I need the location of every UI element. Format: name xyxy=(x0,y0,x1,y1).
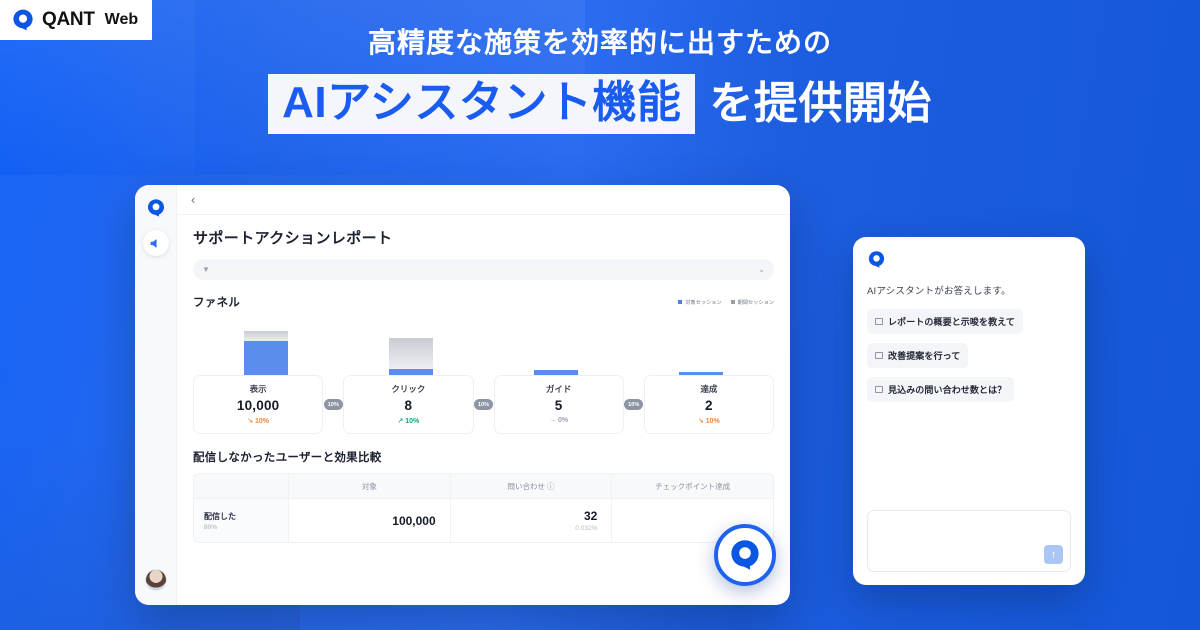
ai-suggestion-label: 改善提案を行って xyxy=(888,349,960,362)
funnel-step-value: 5 xyxy=(499,398,619,413)
legend-item-0: 対象セッション xyxy=(678,299,721,306)
legend-swatch xyxy=(731,300,735,304)
bar-segment-target xyxy=(244,341,288,375)
sidebar-avatar[interactable] xyxy=(145,569,167,591)
funnel-step-value: 8 xyxy=(348,398,468,413)
bar-segment-period xyxy=(244,331,288,341)
headline-sub: 高精度な施策を効率的に出すための xyxy=(0,26,1200,60)
ai-suggestion-chip[interactable]: 見込みの問い合わせ数とは？ xyxy=(867,377,1014,402)
table-header-cell-inquiry: 問い合わせ ⓘ xyxy=(451,474,613,498)
table-header-cell-target: 対象 xyxy=(289,474,451,498)
funnel-step-delta: → 0% xyxy=(499,417,619,424)
page-title: サポートアクションレポート xyxy=(193,227,774,248)
table-row: 配信した 80% 100,000 32 0.032% xyxy=(194,498,773,542)
funnel-bar-0 xyxy=(193,317,338,375)
funnel-title: ファネル xyxy=(193,294,240,310)
funnel-bar-2 xyxy=(484,317,629,375)
sidebar-megaphone-icon[interactable] xyxy=(143,230,169,256)
brand-suffix: Web xyxy=(105,11,138,29)
table-cell-target: 100,000 xyxy=(289,499,451,542)
qant-droplet-logo-icon xyxy=(728,538,762,572)
legend-swatch xyxy=(678,300,682,304)
send-button[interactable]: ↑ xyxy=(1044,545,1063,564)
comparison-table: 対象 問い合わせ ⓘ チェックポイント達成 配信した 80% 100 xyxy=(193,473,774,543)
dashboard-topbar: ‹ xyxy=(177,185,790,215)
message-square-icon xyxy=(875,352,883,359)
funnel-step-value: 10,000 xyxy=(198,398,318,413)
ai-assistant-launcher-button[interactable] xyxy=(714,524,776,586)
chevron-down-icon: ⌄ xyxy=(758,265,765,274)
message-square-icon xyxy=(875,386,883,393)
comparison-title: 配信しなかったユーザーと効果比較 xyxy=(193,449,774,465)
funnel-step-value: 2 xyxy=(649,398,769,413)
funnel-header: ファネル 対象セッション期間セッション xyxy=(193,294,774,310)
funnel-step-label: クリック xyxy=(348,383,468,395)
conversion-rate-value: 10% xyxy=(624,399,643,410)
ai-suggestion-label: レポートの概要と示唆を教えて xyxy=(888,315,1015,328)
qant-droplet-logo-icon xyxy=(867,250,886,269)
headline-rest: を提供開始 xyxy=(709,79,932,128)
ai-suggestion-label: 見込みの問い合わせ数とは？ xyxy=(888,383,1006,396)
headline: 高精度な施策を効率的に出すための AIアシスタント機能 を提供開始 xyxy=(0,26,1200,134)
funnel-step-card[interactable]: クリック8↗ 10% xyxy=(343,375,473,434)
table-header-cell-checkpoint: チェックポイント達成 xyxy=(612,474,773,498)
filter-icon: ▼ xyxy=(202,265,210,274)
ai-suggestion-chip[interactable]: 改善提案を行って xyxy=(867,343,968,368)
brand-name: QANT xyxy=(42,9,95,31)
ai-intro-text: AIアシスタントがお答えします。 xyxy=(867,283,1071,297)
chevron-left-icon[interactable]: ‹ xyxy=(191,192,195,207)
funnel-bar-3 xyxy=(629,317,774,375)
headline-main: AIアシスタント機能 を提供開始 xyxy=(0,74,1200,134)
funnel-step-card[interactable]: 達成2↘ 10% xyxy=(644,375,774,434)
legend-label: 期間セッション xyxy=(738,299,774,306)
legend-label: 対象セッション xyxy=(685,299,721,306)
report-body: サポートアクションレポート ▼ ⌄ ファネル 対象セッション期間セッション 表示… xyxy=(177,215,790,605)
funnel-step-label: 達成 xyxy=(649,383,769,395)
message-square-icon xyxy=(875,318,883,325)
table-header: 対象 問い合わせ ⓘ チェックポイント達成 xyxy=(194,474,773,498)
conversion-rate-value: 10% xyxy=(474,399,493,410)
filter-bar[interactable]: ▼ ⌄ xyxy=(193,259,774,280)
ai-suggestion-list: レポートの概要と示唆を教えて改善提案を行って見込みの問い合わせ数とは？ xyxy=(867,309,1071,402)
headline-highlight: AIアシスタント機能 xyxy=(268,74,695,134)
brand-logo: QANT Web xyxy=(0,0,152,40)
funnel-cards: 表示10,000↘ 10%10%クリック8↗ 10%10%ガイド5→ 0%10%… xyxy=(193,375,774,434)
funnel-step-delta: ↗ 10% xyxy=(348,417,468,425)
dashboard-sidebar xyxy=(135,185,177,605)
conversion-rate-badge: 10% xyxy=(323,375,343,434)
funnel-step-delta: ↘ 10% xyxy=(649,417,769,425)
qant-droplet-logo-icon xyxy=(11,8,35,32)
funnel-step-delta: ↘ 10% xyxy=(198,417,318,425)
ai-assistant-panel: AIアシスタントがお答えします。 レポートの概要と示唆を教えて改善提案を行って見… xyxy=(853,237,1085,585)
conversion-rate-badge: 10% xyxy=(624,375,644,434)
funnel-step-label: 表示 xyxy=(198,383,318,395)
ai-suggestion-chip[interactable]: レポートの概要と示唆を教えて xyxy=(867,309,1023,334)
funnel-bar-1 xyxy=(338,317,483,375)
funnel-bars xyxy=(193,317,774,375)
funnel-step-card[interactable]: ガイド5→ 0% xyxy=(494,375,624,434)
table-header-cell-blank xyxy=(194,474,289,498)
dashboard-window: ‹ サポートアクションレポート ▼ ⌄ ファネル 対象セッション期間セッション … xyxy=(135,185,790,605)
table-cell-name: 配信した 80% xyxy=(194,499,289,542)
legend-item-1: 期間セッション xyxy=(731,299,774,306)
conversion-rate-badge: 10% xyxy=(474,375,494,434)
conversion-rate-value: 10% xyxy=(324,399,343,410)
chart-legend: 対象セッション期間セッション xyxy=(678,299,774,306)
dashboard-content: ‹ サポートアクションレポート ▼ ⌄ ファネル 対象セッション期間セッション … xyxy=(177,185,790,605)
ai-message-input[interactable]: ↑ xyxy=(867,510,1071,572)
table-cell-inquiry: 32 0.032% xyxy=(451,499,613,542)
funnel-step-card[interactable]: 表示10,000↘ 10% xyxy=(193,375,323,434)
sidebar-app-icon[interactable] xyxy=(143,195,169,221)
funnel-step-label: ガイド xyxy=(499,383,619,395)
bar-segment-period xyxy=(389,338,433,369)
